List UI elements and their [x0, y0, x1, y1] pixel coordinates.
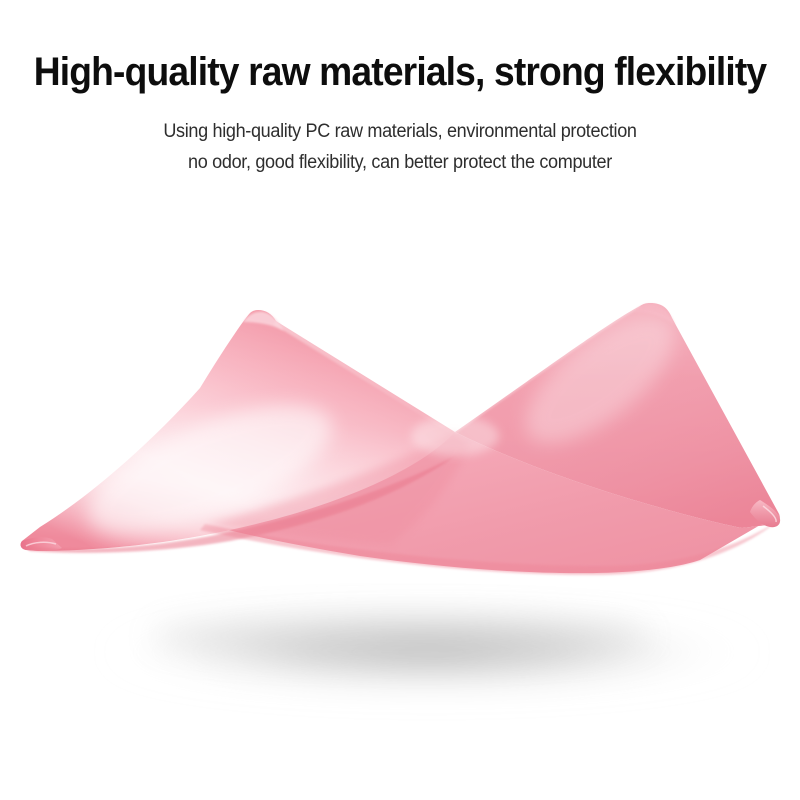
text-block: High-quality raw materials, strong flexi…	[0, 0, 800, 178]
product-drop-shadow	[102, 612, 762, 692]
subtitle-line-2: no odor, good flexibility, can better pr…	[20, 147, 780, 178]
subtitle-line-1: Using high-quality PC raw materials, env…	[20, 97, 780, 147]
case-crossing-bloom	[411, 416, 499, 456]
page-title: High-quality raw materials, strong flexi…	[28, 0, 772, 97]
product-feature-banner: High-quality raw materials, strong flexi…	[0, 0, 800, 800]
